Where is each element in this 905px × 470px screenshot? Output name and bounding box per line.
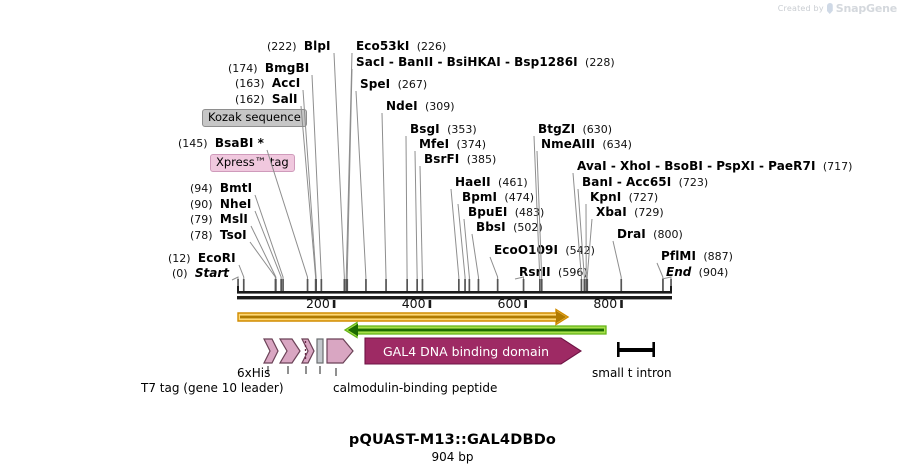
site-tick-bpmi	[464, 279, 466, 291]
ruler-tick-mark-200	[333, 300, 336, 308]
site-tick-bsabi	[307, 279, 309, 291]
leader-line-group	[232, 53, 671, 290]
ruler-tick-label-200: 200	[306, 296, 330, 311]
site-tick-bmti	[282, 279, 284, 291]
site-tick-blpi	[344, 279, 346, 291]
ruler-tick-label-800: 800	[593, 296, 617, 311]
site-tick-bsrfi	[422, 279, 424, 291]
site-tick-avai-group	[581, 279, 583, 291]
leader-line-blpi	[334, 53, 344, 290]
leader-line-bbsi	[472, 234, 478, 290]
leader-line-mfei	[415, 151, 417, 290]
gal4-arrow-label: GAL4 DNA binding domain	[383, 344, 549, 359]
caption-leader-group	[268, 366, 336, 376]
site-tick-drai	[620, 279, 622, 291]
small-t-intron-feature[interactable]	[617, 342, 655, 357]
plasmid-map-canvas: Created by SnapGene (0) Start(12) EcoRI(…	[0, 0, 905, 470]
site-tick-bani-group	[584, 279, 586, 291]
leader-line-ecoo109i	[490, 257, 498, 290]
site-tick-nmeaiii	[541, 279, 543, 291]
site-tick-nhei	[280, 279, 282, 291]
leader-line-bsabi	[267, 150, 307, 290]
plasmid-name: pQUAST-M13::GAL4DBDo	[0, 432, 905, 448]
site-tick-acci	[315, 279, 317, 291]
site-tick-rsrii	[523, 279, 525, 291]
leader-line-bsgi	[406, 136, 407, 290]
plasmid-length: 904 bp	[0, 450, 905, 464]
site-tick-bbsi	[478, 279, 480, 291]
feature-caption-t7tag: T7 tag (gene 10 leader)	[141, 381, 284, 395]
leader-line-bmgbi	[312, 75, 321, 290]
leader-line-saci-group	[347, 69, 352, 290]
site-tick-btgzi	[539, 279, 541, 291]
site-tick-pflmi	[662, 279, 664, 291]
leader-line-pflmi	[657, 263, 663, 290]
leader-line-ndei	[382, 113, 386, 290]
site-tick-ecori	[243, 279, 245, 291]
site-tick-msli	[275, 279, 277, 291]
site-tick-bmgbi	[321, 279, 323, 291]
ruler-tick-mark-400	[429, 300, 432, 308]
site-tick-xbai	[586, 279, 588, 291]
green-reverse-feature-arrow[interactable]	[345, 323, 606, 338]
site-tick-spei	[365, 279, 367, 291]
leader-line-bsrfi	[420, 166, 422, 290]
ruler-tick-label-400: 400	[402, 296, 426, 311]
leader-line-rsrii	[515, 277, 523, 290]
leader-line-msli	[251, 226, 276, 290]
ruler-tick-mark-600	[524, 300, 527, 308]
site-tick-bpuei	[469, 279, 471, 291]
site-tick-saci-group	[346, 279, 348, 291]
orange-forward-feature-arrow[interactable]	[238, 310, 568, 325]
map-graphics: 200400600800	[0, 0, 905, 470]
leader-line-drai	[613, 241, 621, 290]
site-tick-mfei	[416, 279, 418, 291]
site-tick-haeii	[458, 279, 460, 291]
ruler-tick-mark-800	[620, 300, 623, 308]
upstream-small-features[interactable]	[264, 339, 353, 363]
feature-caption-6xhis: 6xHis	[237, 366, 270, 380]
site-tick-ecoo109i	[497, 279, 499, 291]
feature-caption-calmodulin: calmodulin-binding peptide	[333, 381, 497, 395]
site-tick-ndei	[385, 279, 387, 291]
leader-line-nhei	[255, 211, 281, 290]
leader-line-spei	[356, 91, 366, 290]
feature-caption-small_t: small t intron	[592, 366, 672, 380]
site-tick-bsgi	[406, 279, 408, 291]
ruler-tick-label-600: 600	[498, 296, 522, 311]
site-tick-group	[237, 279, 672, 291]
leader-line-avai-group	[573, 173, 581, 290]
